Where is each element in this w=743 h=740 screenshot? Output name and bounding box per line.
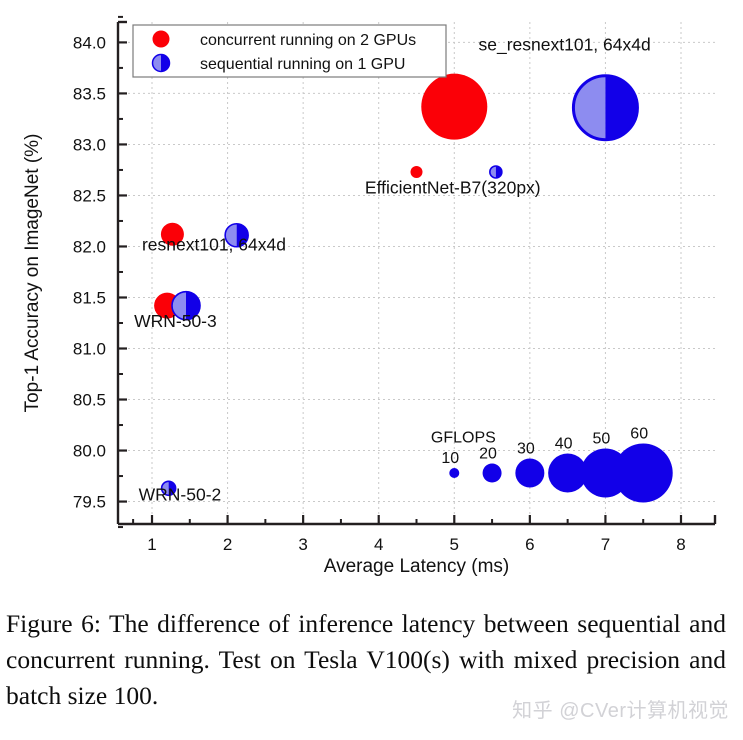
y-tick-label: 83.0 xyxy=(73,135,106,154)
point-annotation: se_resnext101, 64x4d xyxy=(479,35,651,56)
y-tick-label: 80.0 xyxy=(73,442,106,461)
gflops-scale-label: 50 xyxy=(593,430,611,447)
watermark-text: 知乎 @CVer计算机视觉 xyxy=(512,694,729,723)
y-tick-label: 84.0 xyxy=(73,33,106,52)
x-tick-label: 3 xyxy=(298,535,307,554)
gflops-scale-label: 20 xyxy=(479,445,497,462)
y-tick-label: 81.5 xyxy=(73,288,106,307)
y-tick-label: 82.5 xyxy=(73,186,106,205)
chart-canvas: 102030405060GFLOPSresnext101, 64x4dWRN-5… xyxy=(0,0,743,600)
point-annotation: WRN-50-2 xyxy=(139,485,222,505)
gflops-scale-label: 60 xyxy=(630,425,648,442)
gflops-scale-label: 40 xyxy=(555,435,573,452)
gflops-scale-label: 10 xyxy=(441,450,459,467)
bubble-concurrent[interactable]: se_resnext101, 64x4d xyxy=(421,74,487,140)
legend-label-sequential: sequential running on 1 GPU xyxy=(200,56,405,73)
point-annotation: EfficientNet-B7(320px) xyxy=(365,177,541,197)
bubble-chart: 102030405060GFLOPSresnext101, 64x4dWRN-5… xyxy=(0,0,743,600)
point-annotation: WRN-50-3 xyxy=(134,311,217,331)
gflops-scale-bubble xyxy=(515,458,544,487)
x-tick-label: 4 xyxy=(374,535,383,554)
gflops-scale-label: 30 xyxy=(517,440,535,457)
x-tick-label: 6 xyxy=(525,535,534,554)
legend-marker-concurrent xyxy=(153,31,170,48)
gflops-scale-bubble xyxy=(449,468,459,478)
y-tick-label: 79.5 xyxy=(73,493,106,512)
bubble-sequential[interactable]: se_resnext101, 64x4d xyxy=(573,76,637,140)
x-tick-label: 8 xyxy=(676,535,685,554)
y-axis-title: Top-1 Accuracy on ImageNet (%) xyxy=(22,134,43,413)
y-tick-label: 83.5 xyxy=(73,84,106,103)
bubble-concurrent[interactable]: EfficientNet-B7(320px) xyxy=(411,166,423,178)
x-tick-label: 2 xyxy=(223,535,232,554)
gflops-scale-bubble xyxy=(614,443,673,502)
y-tick-label: 82.0 xyxy=(73,237,106,256)
point-annotation: resnext101, 64x4d xyxy=(142,235,286,255)
x-tick-label: 1 xyxy=(147,535,156,554)
figure-root: 102030405060GFLOPSresnext101, 64x4dWRN-5… xyxy=(0,0,743,740)
x-axis-title: Average Latency (ms) xyxy=(324,556,510,577)
y-tick-label: 81.0 xyxy=(73,340,106,359)
bubble-sequential[interactable]: EfficientNet-B7(320px) xyxy=(490,166,502,178)
y-tick-label: 80.5 xyxy=(73,391,106,410)
gflops-scale-bubble xyxy=(483,463,502,482)
x-tick-label: 5 xyxy=(450,535,459,554)
gflops-legend-title: GFLOPS xyxy=(431,429,496,446)
legend-label-concurrent: concurrent running on 2 GPUs xyxy=(200,32,416,49)
x-tick-label: 7 xyxy=(601,535,610,554)
